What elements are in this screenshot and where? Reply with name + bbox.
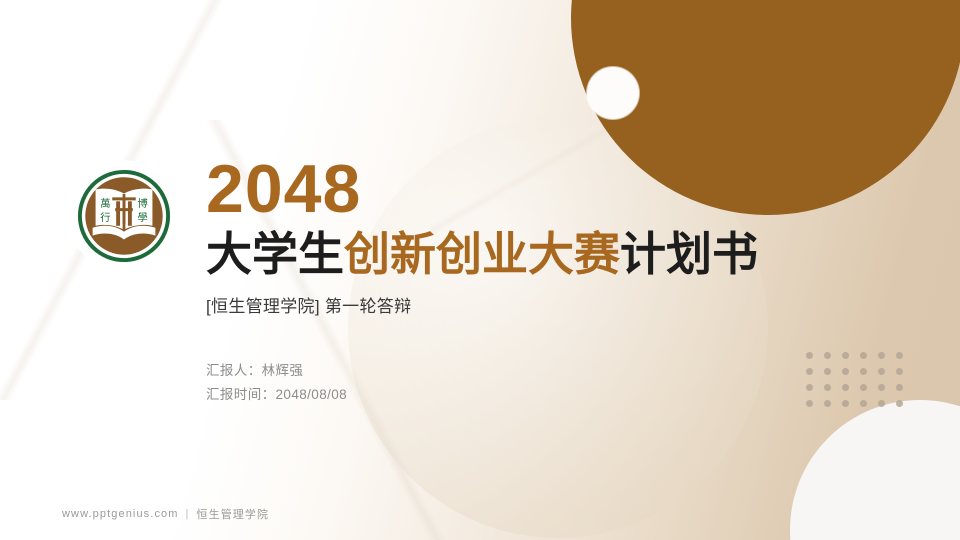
footer: www.pptgenius.com | 恒生管理学院 bbox=[62, 506, 269, 522]
footer-separator: | bbox=[186, 508, 190, 520]
college-emblem-logo: 萬 博 行 學 bbox=[68, 160, 180, 272]
grid-dot bbox=[896, 384, 903, 391]
grid-dot bbox=[896, 352, 903, 359]
emblem-char-bo: 博 bbox=[137, 197, 147, 210]
grid-dot bbox=[860, 384, 867, 391]
subtitle: [恒生管理学院] 第一轮答辩 bbox=[206, 295, 846, 319]
emblem-icon: 萬 博 行 學 bbox=[75, 167, 173, 265]
grid-dot bbox=[878, 352, 885, 359]
emblem-char-wan: 萬 bbox=[100, 197, 110, 210]
emblem-char-xing: 行 bbox=[100, 211, 110, 224]
year-heading: 2048 bbox=[206, 155, 846, 223]
presentation-title-slide: 萬 博 行 學 2048 大学生创新创业大赛计划书 [恒生管理学院] 第一轮答辩… bbox=[0, 0, 960, 540]
small-white-circle-decoration bbox=[587, 67, 639, 119]
grid-dot bbox=[860, 368, 867, 375]
grid-dot bbox=[878, 384, 885, 391]
title-content-block: 2048 大学生创新创业大赛计划书 [恒生管理学院] 第一轮答辩 汇报人：林辉强… bbox=[206, 155, 846, 406]
grid-dot bbox=[896, 368, 903, 375]
presenter-meta: 汇报人：林辉强 汇报时间：2048/08/08 bbox=[206, 359, 846, 406]
grid-dot bbox=[896, 400, 903, 407]
grid-dot bbox=[860, 352, 867, 359]
title-suffix: 计划书 bbox=[620, 228, 758, 280]
grid-dot bbox=[878, 368, 885, 375]
white-circle-decoration-bottom-right bbox=[790, 400, 960, 540]
grid-dot bbox=[860, 400, 867, 407]
footer-organization: 恒生管理学院 bbox=[197, 506, 270, 522]
grid-dot bbox=[878, 400, 885, 407]
presentation-date: 汇报时间：2048/08/08 bbox=[206, 383, 846, 407]
footer-website[interactable]: www.pptgenius.com bbox=[62, 508, 179, 520]
title-prefix: 大学生 bbox=[206, 228, 344, 280]
page-title: 大学生创新创业大赛计划书 bbox=[206, 227, 846, 281]
emblem-char-xue: 學 bbox=[137, 211, 147, 224]
presenter-name: 汇报人：林辉强 bbox=[206, 359, 846, 383]
title-accent: 创新创业大赛 bbox=[344, 228, 620, 280]
